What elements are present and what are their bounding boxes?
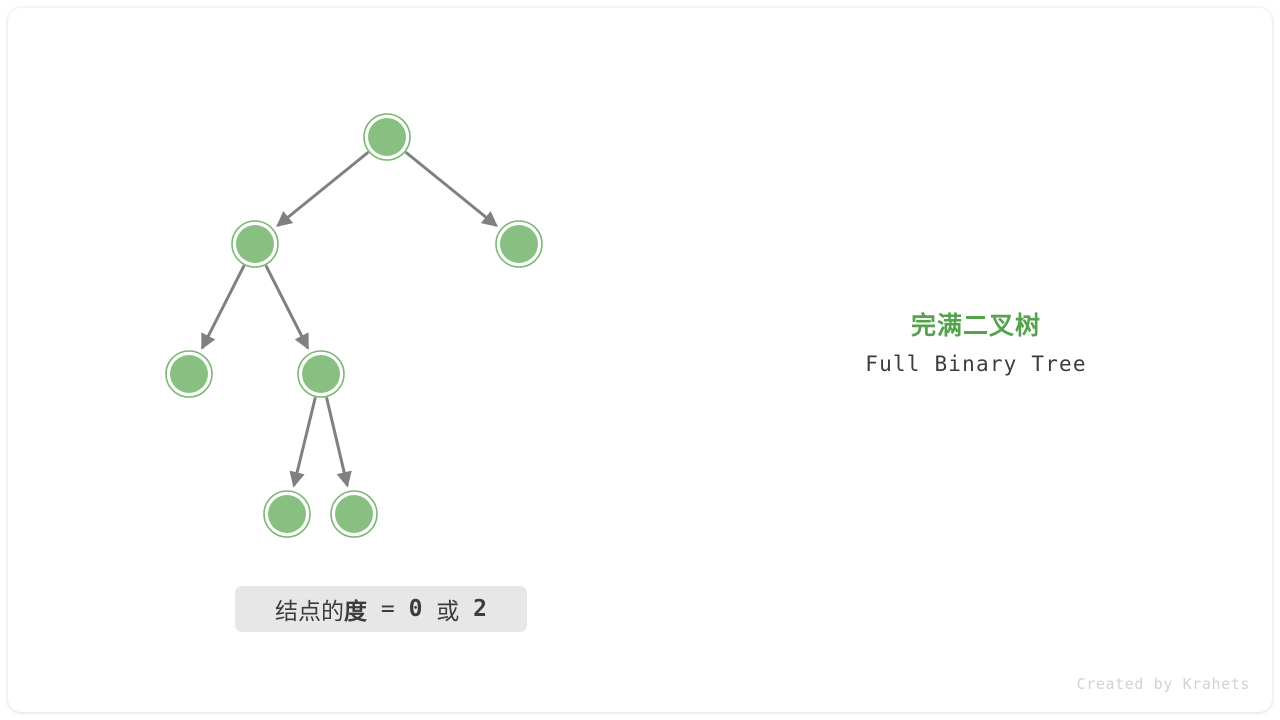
caption-segment-1: 度: [344, 592, 367, 626]
tree-node: [331, 491, 377, 537]
tree-edge: [266, 265, 308, 348]
node-disc: [368, 118, 406, 156]
node-disc: [236, 225, 274, 263]
caption-segment-3: 0: [409, 596, 423, 622]
tree-node: [264, 491, 310, 537]
credit-text: Created by Krahets: [1077, 675, 1250, 693]
caption-segment-5: 2: [473, 596, 487, 622]
node-disc: [302, 355, 340, 393]
tree-node: [364, 114, 410, 160]
diagram-card: 完满二叉树 Full Binary Tree 结点的度 = 0 或 2 Crea…: [8, 8, 1272, 712]
tree-edge: [294, 397, 315, 485]
node-disc: [268, 495, 306, 533]
tree-nodes: [166, 114, 542, 537]
tree-edge: [278, 152, 369, 226]
tree-node: [298, 351, 344, 397]
tree-edge: [327, 397, 348, 485]
node-disc: [335, 495, 373, 533]
node-disc: [170, 355, 208, 393]
caption-segment-0: 结点的: [275, 592, 344, 626]
caption-segment-2: =: [367, 596, 409, 622]
tree-node: [232, 221, 278, 267]
title-english: Full Binary Tree: [766, 352, 1186, 376]
tree-edge: [202, 265, 244, 348]
tree-edge: [406, 152, 497, 226]
tree-edges: [202, 152, 496, 486]
degree-caption: 结点的度 = 0 或 2: [235, 586, 527, 632]
caption-segment-4: 或: [422, 592, 473, 626]
title-chinese: 完满二叉树: [766, 306, 1186, 342]
tree-node: [166, 351, 212, 397]
node-disc: [500, 225, 538, 263]
tree-node: [496, 221, 542, 267]
